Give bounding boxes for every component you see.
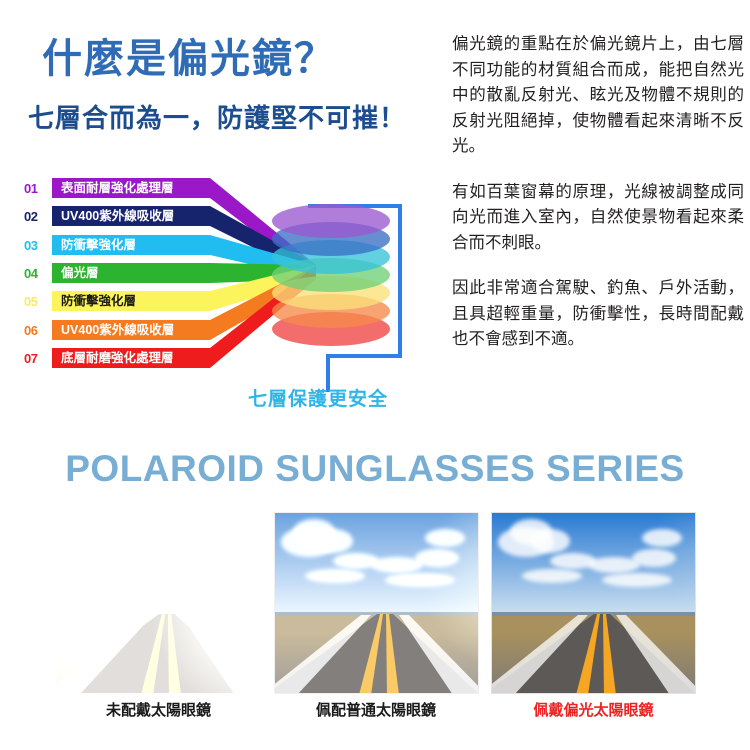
layer-number: 02 [24,209,48,224]
page-title: 什麼是偏光鏡？ [42,26,336,84]
layer-number: 05 [24,294,48,309]
layer-connector [210,178,316,198]
haze-overlay [57,513,260,693]
layer-band: UV400紫外線吸收層 [52,320,210,340]
series-title: POLAROID SUNGLASSES SERIES [0,448,750,490]
layer-band: 表面耐層強化處理層 [52,178,210,198]
lens-stack-caption: 七層保護更安全 [248,384,388,411]
photo-comparison-row [56,512,696,694]
layer-label: UV400紫外線吸收層 [52,206,174,226]
description-column: 偏光鏡的重點在於偏光鏡片上，由七層不同功能的材質組合而成，能把自然光中的散亂反射… [452,32,744,373]
photo-caption: 未配戴太陽眼鏡 [56,700,261,728]
page-subtitle: 七層合而為一，防護堅不可摧！ [28,98,406,135]
layer-label: 防衝擊強化層 [52,235,136,255]
comparison-photo [56,512,261,694]
haze-overlay [275,513,478,693]
layer-number: 03 [24,238,48,253]
layer-band: 偏光層 [52,263,210,283]
layer-band: UV400紫外線吸收層 [52,206,210,226]
layer-row: 01表面耐層強化處理層 [22,178,322,202]
lens-stack-diagram [272,204,394,356]
layer-label: 底層耐磨強化處理層 [52,348,174,368]
description-paragraph-1: 偏光鏡的重點在於偏光鏡片上，由七層不同功能的材質組合而成，能把自然光中的散亂反射… [452,32,744,160]
photo-caption-row: 未配戴太陽眼鏡佩配普通太陽眼鏡佩戴偏光太陽眼鏡 [56,700,696,728]
lens-layer-disc [272,204,390,238]
layer-number: 01 [24,181,48,196]
layer-band: 防衝擊強化層 [52,291,210,311]
layer-number: 04 [24,266,48,281]
layer-band: 底層耐磨強化處理層 [52,348,210,368]
infographic-page: 什麼是偏光鏡？ 七層合而為一，防護堅不可摧！ 偏光鏡的重點在於偏光鏡片上，由七層… [0,0,750,750]
description-paragraph-3: 因此非常適合駕駛、釣魚、戶外活動，且具超輕重量，防衝擊性，長時間配戴也不會感到不… [452,276,744,353]
layer-band: 防衝擊強化層 [52,235,210,255]
comparison-photo [491,512,696,694]
comparison-photo [274,512,479,694]
photo-caption: 佩戴偏光太陽眼鏡 [491,700,696,728]
description-paragraph-2: 有如百葉窗幕的原理，光線被調整成同向光而進入室內，自然使景物看起來柔合而不刺眼。 [452,180,744,257]
layer-label: 偏光層 [52,263,99,283]
layer-number: 06 [24,323,48,338]
layer-number: 07 [24,351,48,366]
layer-label: 表面耐層強化處理層 [52,178,174,198]
photo-caption: 佩配普通太陽眼鏡 [274,700,479,728]
layer-label: UV400紫外線吸收層 [52,320,174,340]
layer-label: 防衝擊強化層 [52,291,136,311]
